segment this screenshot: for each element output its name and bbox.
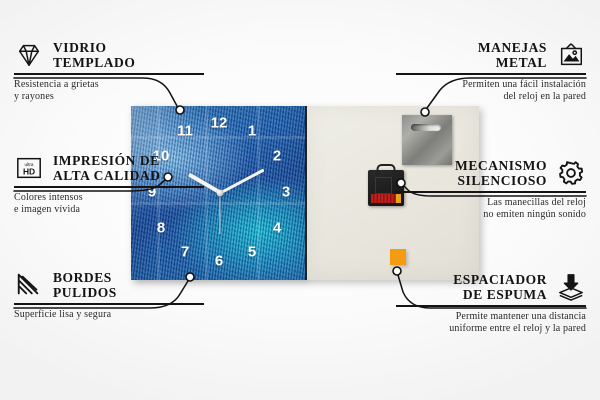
gear-icon: [556, 159, 586, 187]
polished-edges-icon: [14, 271, 44, 299]
foam-spacer-pad: [390, 249, 406, 265]
movement-dial: [375, 177, 392, 194]
feature-subtitle: Colores intensos e imagen vívida: [14, 192, 204, 218]
clock-numeral-5: 5: [248, 245, 256, 260]
feature-title: ESPACIADOR DE ESPUMA: [453, 272, 547, 302]
clock-hands-hub: [217, 190, 224, 197]
feature-subtitle: Permite mantener una distancia uniforme …: [396, 311, 586, 337]
feature-espaciador-espuma: ESPACIADOR DE ESPUMA Permite mantener un…: [396, 272, 586, 336]
title-rule: [396, 191, 586, 192]
feature-subtitle: Resistencia a grietas y rayones: [14, 79, 204, 105]
clock-numeral-12: 12: [211, 116, 228, 131]
feature-title: BORDES PULIDOS: [53, 270, 117, 300]
feature-subtitle: Las manecillas del reloj no emiten ningú…: [396, 197, 586, 223]
title-rule: [396, 305, 586, 306]
ultra-hd-icon: ultra HD: [14, 154, 44, 182]
feature-title: MECANISMO SILENCIOSO: [455, 158, 547, 188]
feature-title: IMPRESIÓN DE ALTA CALIDAD: [53, 153, 161, 183]
clock-numeral-8: 8: [157, 221, 165, 236]
title-rule: [14, 303, 204, 304]
clock-numeral-4: 4: [273, 221, 281, 236]
clock-second-hand: [219, 193, 220, 234]
feature-subtitle: Superficie lisa y segura: [14, 309, 204, 322]
clock-numeral-1: 1: [248, 124, 256, 139]
title-rule: [14, 186, 204, 187]
picture-frame-hanging-icon: [556, 41, 586, 69]
infographic-canvas: 12 1 2 3 4 5 6 7 8 9 10 11: [0, 0, 600, 400]
clock-numeral-11: 11: [177, 124, 193, 139]
movement-hanging-loop: [377, 164, 396, 175]
clock-numeral-3: 3: [282, 185, 290, 200]
feature-title: VIDRIO TEMPLADO: [53, 40, 135, 70]
clock-numeral-6: 6: [215, 254, 223, 269]
title-rule: [396, 73, 586, 74]
feature-mecanismo-silencioso: MECANISMO SILENCIOSO Las manecillas del …: [396, 158, 586, 222]
clock-numeral-7: 7: [181, 245, 189, 260]
title-rule: [14, 73, 204, 74]
arrow-down-layers-icon: [556, 273, 586, 301]
feature-vidrio-templado: VIDRIO TEMPLADO Resistencia a grietas y …: [14, 40, 204, 104]
feature-subtitle: Permiten una fácil instalación del reloj…: [396, 79, 586, 105]
hanger-keyhole-slot: [411, 124, 441, 131]
feature-impresion-alta-calidad: ultra HD IMPRESIÓN DE ALTA CALIDAD Color…: [14, 153, 204, 217]
clock-numeral-2: 2: [273, 149, 281, 164]
diamond-icon: [14, 41, 44, 69]
feature-bordes-pulidos: BORDES PULIDOS Superficie lisa y segura: [14, 270, 204, 321]
svg-text:HD: HD: [23, 167, 35, 177]
feature-title: MANEJAS METAL: [478, 40, 547, 70]
feature-manejas-metal: MANEJAS METAL Permiten una fácil instala…: [396, 40, 586, 104]
